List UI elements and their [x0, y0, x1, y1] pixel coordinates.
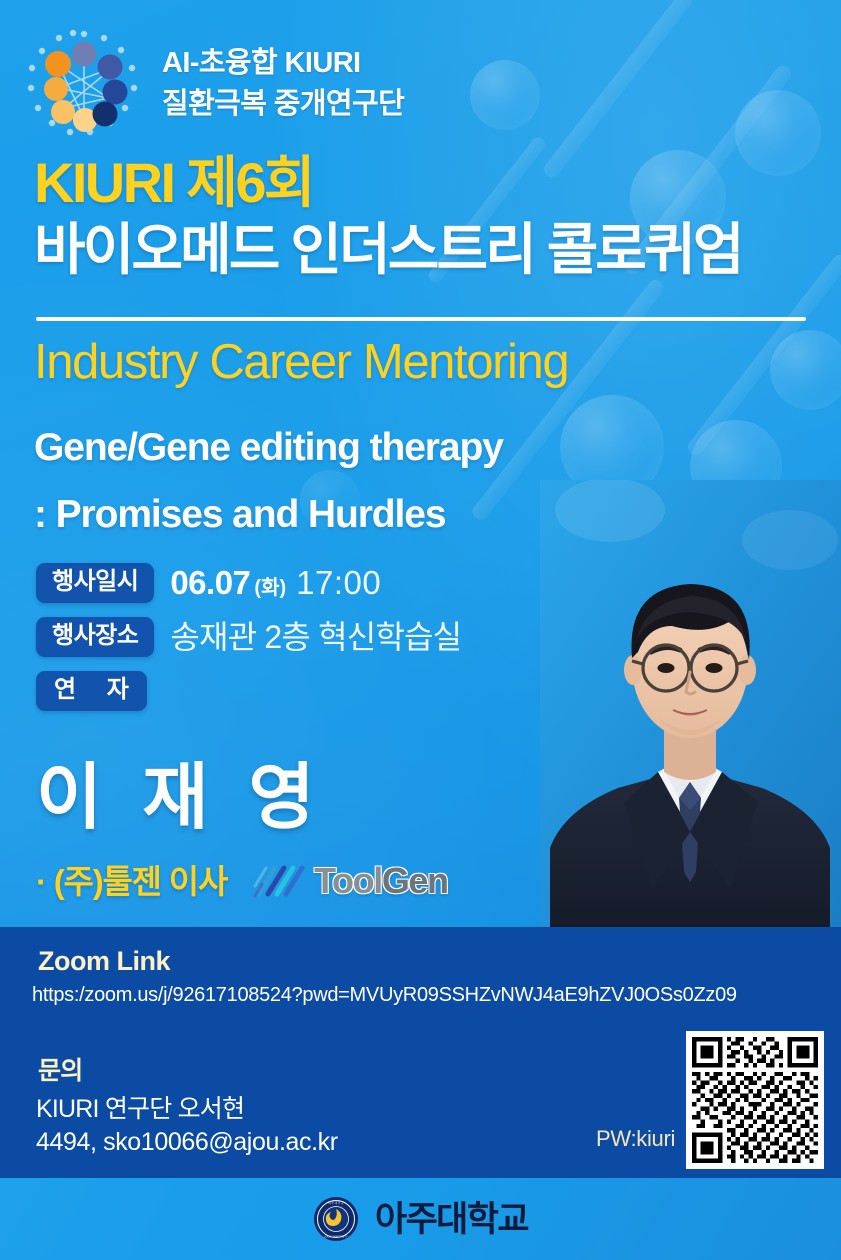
- info-row-date: 행사일시 06.07(화)17:00: [36, 563, 461, 603]
- topic-line-2: : Promises and Hurdles: [34, 495, 445, 534]
- network-nodes-icon: [26, 26, 142, 142]
- badge-speaker-label: 연 자: [36, 671, 147, 711]
- event-date: 06.07: [170, 564, 250, 601]
- zoom-link-url[interactable]: https:/zoom.us/j/92617108524?pwd=MVUyR09…: [32, 985, 737, 1005]
- org-line-2: 질환극복 중개연구단: [162, 85, 404, 124]
- toolgen-wordmark: ToolGen: [314, 863, 448, 899]
- title-divider: [36, 317, 806, 321]
- svg-text:아 주 대 학 교: 아 주 대 학 교: [329, 1201, 344, 1205]
- speaker-affiliation: · (주)툴젠 이사: [36, 865, 227, 898]
- inquiry-label: 문의: [38, 1059, 82, 1084]
- speaker-portrait: [540, 480, 841, 927]
- university-bar: 아 주 대 학 교 AJOU UNIVERSITY 아주대학교: [0, 1178, 841, 1260]
- event-time: 17:00: [296, 564, 381, 601]
- toolgen-word-tool: Tool: [314, 860, 382, 901]
- poster-root: AI-초융합 KIURI 질환극복 중개연구단 KIURI 제6회 바이오메드 …: [0, 0, 841, 1260]
- toolgen-logo: ToolGen: [249, 860, 448, 902]
- svg-text:AJOU UNIVERSITY: AJOU UNIVERSITY: [324, 1235, 347, 1239]
- event-venue: 송재관 2층 혁신학습실: [170, 621, 461, 653]
- topic-line-1: Gene/Gene editing therapy: [34, 428, 503, 467]
- badge-venue-label: 행사장소: [36, 617, 154, 657]
- header-branding: AI-초융합 KIURI 질환극복 중개연구단: [26, 26, 404, 142]
- inquiry-contact-name: KIURI 연구단 오서현: [36, 1097, 244, 1122]
- info-row-speaker: 연 자: [36, 671, 461, 711]
- zoom-password: PW:kiuri: [596, 1128, 675, 1150]
- toolgen-mark-icon: [249, 860, 307, 902]
- series-title: Industry Career Mentoring: [34, 338, 568, 387]
- org-line-1: AI-초융합 KIURI: [162, 44, 404, 83]
- qr-code[interactable]: [686, 1031, 824, 1169]
- event-weekday: (화): [254, 577, 286, 599]
- toolgen-word-gen: Gen: [382, 860, 448, 901]
- title-korean-line-2: 바이오메드 인더스트리 콜로퀴엄: [34, 222, 742, 278]
- event-info-list: 행사일시 06.07(화)17:00 행사장소 송재관 2층 혁신학습실 연 자: [36, 563, 461, 711]
- speaker-affiliation-group: · (주)툴젠 이사 ToolGen: [36, 860, 448, 902]
- inquiry-contact-email[interactable]: 4494, sko10066@ajou.ac.kr: [36, 1130, 338, 1155]
- university-name: 아주대학교: [375, 1202, 528, 1237]
- zoom-link-label: Zoom Link: [38, 948, 170, 975]
- info-row-venue: 행사장소 송재관 2층 혁신학습실: [36, 617, 461, 657]
- date-value-group: 06.07(화)17:00: [170, 564, 381, 602]
- title-korean-line-1: KIURI 제6회: [34, 155, 313, 211]
- speaker-name: 이 재 영: [36, 762, 325, 834]
- badge-date-label: 행사일시: [36, 563, 154, 603]
- ajou-university-emblem: 아 주 대 학 교 AJOU UNIVERSITY: [313, 1196, 359, 1242]
